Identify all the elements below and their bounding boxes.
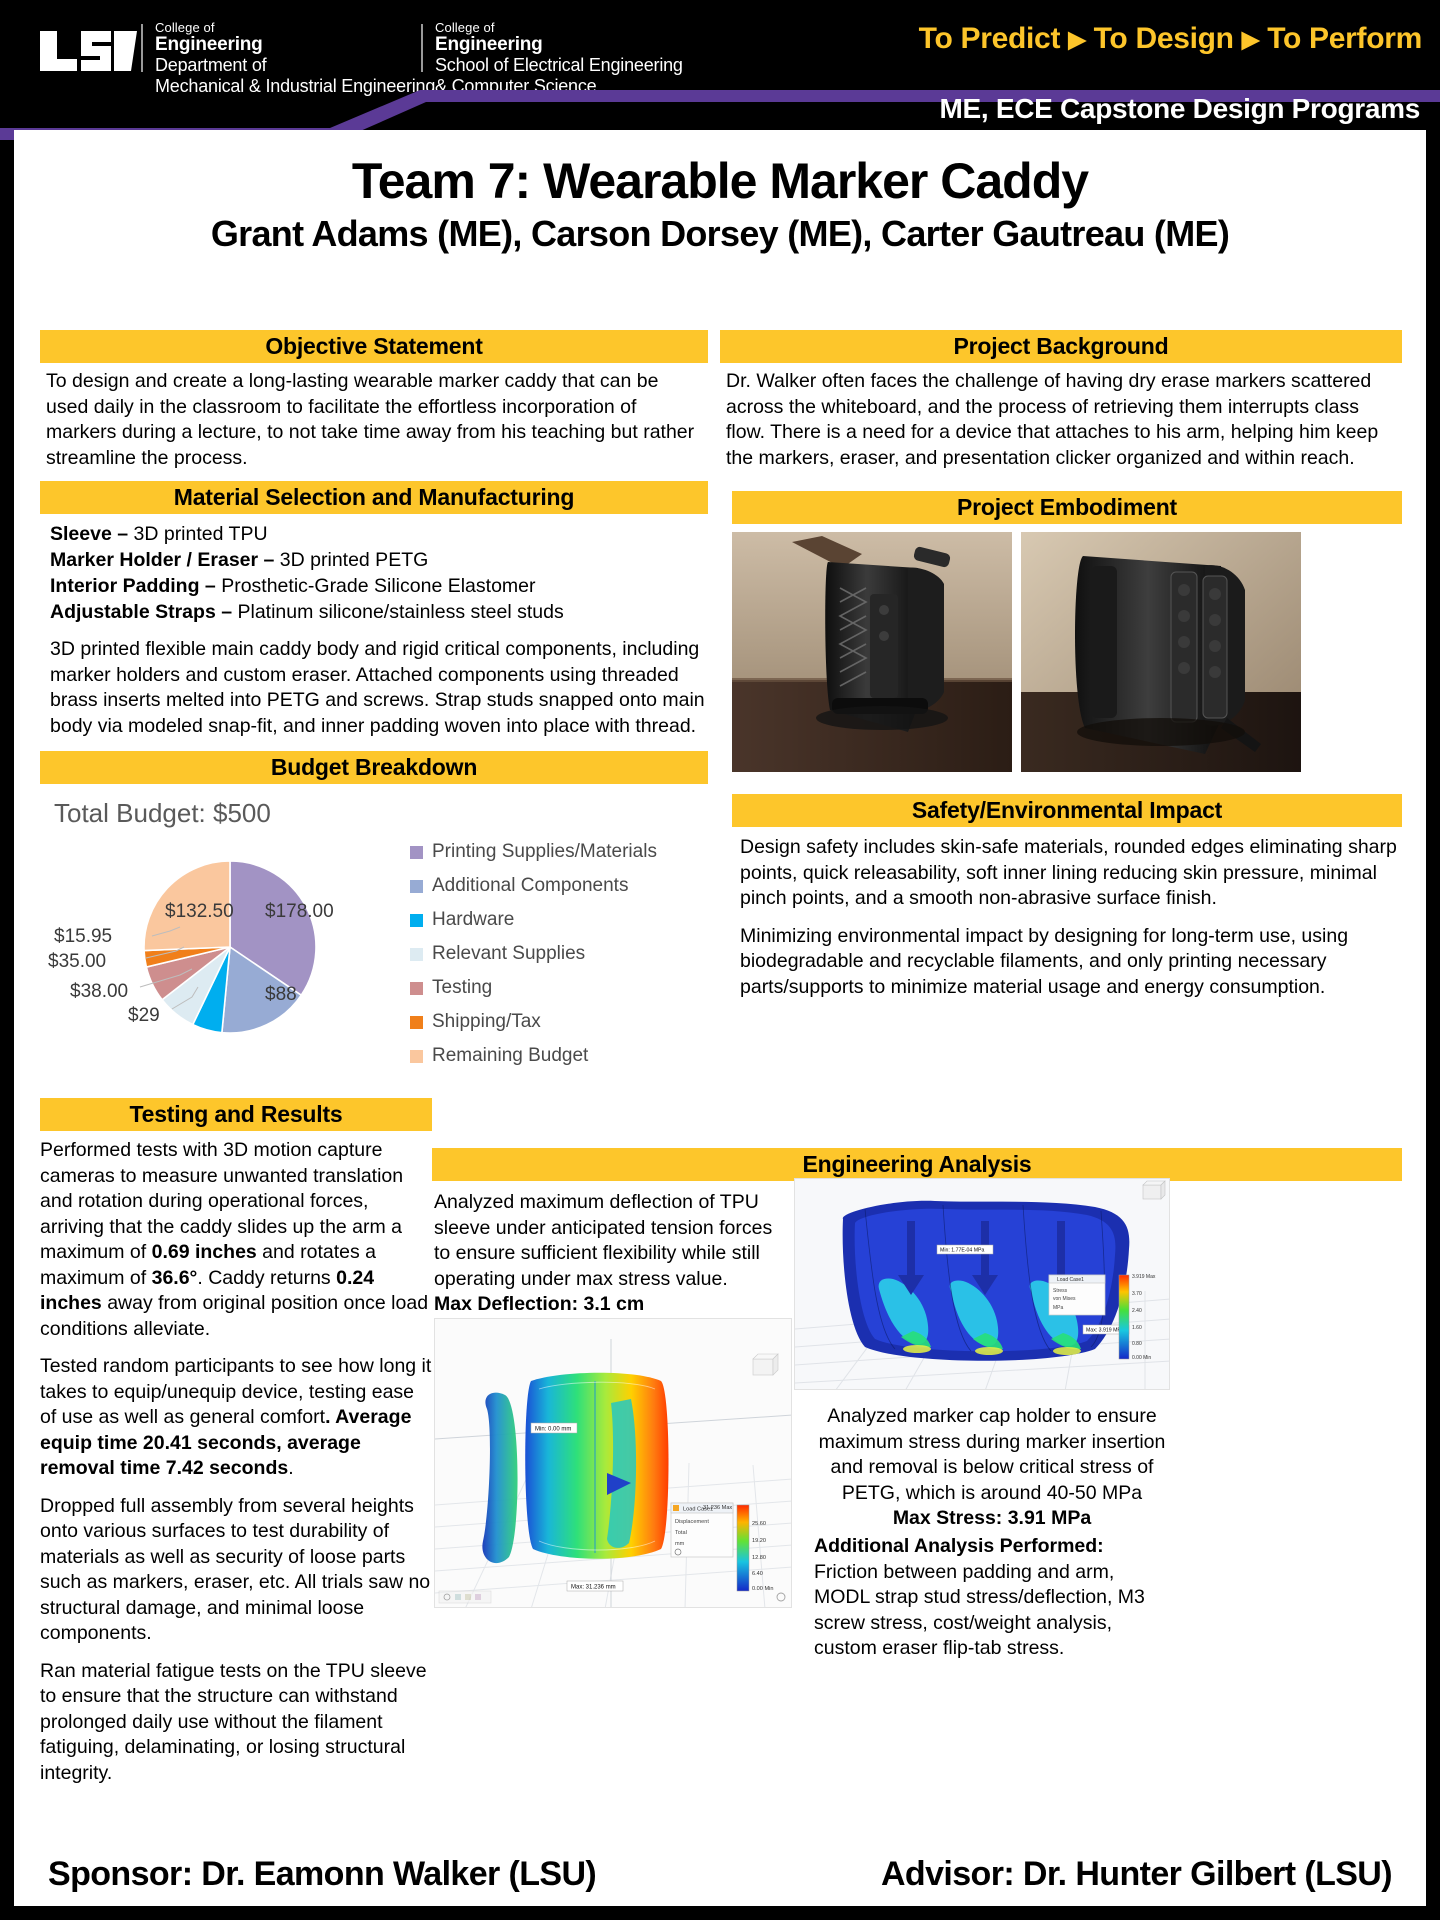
legend-item: Shipping/Tax	[410, 1005, 657, 1039]
dept1-line1: Department of	[155, 55, 435, 76]
section-safety: Safety/Environmental Impact Design safet…	[732, 794, 1402, 1000]
legend-label: Testing	[432, 977, 492, 999]
section-objective: Objective Statement To design and create…	[40, 330, 708, 471]
photo-2-graphic	[1021, 532, 1301, 772]
material-key: Interior Padding –	[50, 575, 216, 597]
pie-label-additional: $88	[265, 984, 297, 1006]
divider	[421, 24, 423, 72]
svg-text:Total: Total	[675, 1530, 687, 1536]
material-key: Adjustable Straps –	[50, 601, 232, 623]
material-key: Sleeve –	[50, 523, 128, 545]
testing-paragraph-1: Performed tests with 3D motion capture c…	[40, 1131, 432, 1342]
advisor-text: Advisor: Dr. Hunter Gilbert (LSU)	[881, 1855, 1392, 1894]
department-eecs: College of Engineering School of Electri…	[435, 20, 683, 97]
additional-label: Additional Analysis Performed:	[814, 1535, 1104, 1557]
testing-paragraph-2: Tested random participants to see how lo…	[40, 1354, 432, 1482]
lsu-logo	[38, 28, 138, 74]
legend-swatch-icon	[410, 1016, 423, 1029]
pie-label-hardware: $29	[128, 1005, 160, 1027]
svg-text:12.80: 12.80	[752, 1555, 766, 1561]
section-embodiment: Project Embodiment	[732, 491, 1402, 772]
legend-label: Hardware	[432, 909, 514, 931]
svg-text:3.919 Max: 3.919 Max	[1132, 1274, 1156, 1280]
program-banner-text: ME, ECE Capstone Design Programs	[939, 88, 1420, 130]
background-body: Dr. Walker often faces the challenge of …	[720, 363, 1402, 471]
safety-heading: Safety/Environmental Impact	[732, 794, 1402, 827]
svg-text:0.00 Min: 0.00 Min	[1132, 1355, 1151, 1361]
additional-analysis: Additional Analysis Performed: Friction …	[814, 1534, 1170, 1662]
pie-label-testing: $35.00	[48, 951, 106, 973]
chart-legend: Printing Supplies/Materials Additional C…	[410, 835, 657, 1073]
dept2-line1: School of Electrical Engineering	[435, 55, 683, 76]
testing-heading: Testing and Results	[40, 1098, 432, 1131]
svg-text:0.80: 0.80	[1132, 1341, 1142, 1347]
pie-label-shipping: $15.95	[54, 926, 112, 948]
background-heading: Project Background	[720, 330, 1402, 363]
objective-heading: Objective Statement	[40, 330, 708, 363]
legend-swatch-icon	[410, 948, 423, 961]
product-photo-1	[732, 532, 1012, 772]
fea1-max-label: Max: 31.236 mm	[571, 1585, 616, 1591]
legend-swatch-icon	[410, 914, 423, 927]
txt-bold: 36.6°	[152, 1267, 198, 1289]
svg-text:6.40: 6.40	[752, 1571, 763, 1577]
legend-label: Printing Supplies/Materials	[432, 841, 657, 863]
section-testing: Testing and Results Performed tests with…	[40, 1098, 432, 1786]
svg-text:Load Case1: Load Case1	[1057, 1277, 1084, 1283]
embodiment-heading: Project Embodiment	[732, 491, 1402, 524]
pie-label-remaining: $132.50	[165, 901, 234, 923]
pie-label-printing: $178.00	[265, 901, 334, 923]
safety-paragraph-2: Minimizing environmental impact by desig…	[732, 924, 1402, 1001]
svg-text:0.00 Min: 0.00 Min	[752, 1586, 773, 1592]
engineering-heading: Engineering Analysis	[432, 1148, 1402, 1181]
embodiment-photos	[732, 524, 1402, 772]
svg-text:3.70: 3.70	[1132, 1291, 1142, 1297]
view-cube-icon	[753, 1354, 778, 1375]
legend-item: Printing Supplies/Materials	[410, 835, 657, 869]
section-budget: Budget Breakdown Total Budget: $500 $132…	[40, 751, 708, 1084]
fea1-legend-panel: Load Case1 Displacement Total mm	[671, 1503, 733, 1557]
safety-paragraph-1: Design safety includes skin-safe materia…	[732, 827, 1402, 912]
budget-chart: Total Budget: $500 $132.50 $178.00 $8	[40, 784, 708, 1084]
sleeve-text: Analyzed maximum deflection of TPU sleev…	[434, 1190, 792, 1292]
txt: . Caddy returns	[197, 1267, 336, 1289]
view-cube-icon	[1143, 1181, 1165, 1199]
arrow-right-icon: ▶	[1068, 26, 1085, 52]
section-material: Material Selection and Manufacturing Sle…	[40, 481, 708, 739]
list-item: Sleeve – 3D printed TPU	[50, 521, 708, 547]
legend-swatch-icon	[410, 880, 423, 893]
legend-label: Additional Components	[432, 875, 628, 897]
pie-label-relevant: $38.00	[70, 981, 128, 1003]
divider	[141, 24, 143, 72]
svg-text:von Mises: von Mises	[1053, 1296, 1076, 1302]
dept2-college: Engineering	[435, 35, 683, 55]
svg-text:31.236 Max: 31.236 Max	[703, 1505, 732, 1511]
sleeve-max-deflection: Max Deflection: 3.1 cm	[434, 1292, 792, 1318]
department-mie: College of Engineering Department of Mec…	[155, 20, 435, 97]
list-item: Interior Padding – Prosthetic-Grade Sili…	[50, 573, 708, 599]
product-photo-2	[1021, 532, 1301, 772]
tagline-predict: To Predict	[919, 22, 1060, 55]
pie-chart	[80, 839, 380, 1049]
svg-text:19.20: 19.20	[752, 1538, 766, 1544]
page-title: Team 7: Wearable Marker Caddy	[14, 130, 1426, 210]
svg-text:MPa: MPa	[1053, 1305, 1064, 1311]
svg-text:Displacement: Displacement	[675, 1519, 709, 1525]
fea2-legend-panel: Load Case1 Stress von Mises MPa	[1049, 1275, 1105, 1315]
material-list: Sleeve – 3D printed TPU Marker Holder / …	[40, 514, 708, 625]
material-value: Platinum silicone/stainless steel studs	[237, 601, 563, 623]
section-engineering: Engineering Analysis Analyzed maximum de…	[432, 1148, 1402, 1181]
fea-sleeve-graphic: Min: 0.00 mm Max: 31.236 mm Load Case1 D…	[435, 1319, 792, 1608]
arrow-right-icon: ▶	[1242, 26, 1259, 52]
material-value: 3D printed TPU	[134, 523, 268, 545]
legend-swatch-icon	[410, 982, 423, 995]
pie-chart-area: $132.50 $178.00 $88 $15.95 $35.00 $38.00…	[40, 829, 708, 1079]
legend-label: Shipping/Tax	[432, 1011, 541, 1033]
material-key: Marker Holder / Eraser –	[50, 549, 274, 571]
photo-1-graphic	[732, 532, 1012, 772]
dept2-college-of: College of	[435, 20, 683, 35]
cap-text: Analyzed marker cap holder to ensure max…	[814, 1404, 1170, 1506]
list-item: Marker Holder / Eraser – 3D printed PETG	[50, 547, 708, 573]
poster-canvas: Team 7: Wearable Marker Caddy Grant Adam…	[14, 130, 1426, 1906]
txt: .	[288, 1457, 293, 1479]
material-paragraph: 3D printed flexible main caddy body and …	[40, 637, 708, 739]
legend-item: Hardware	[410, 903, 657, 937]
svg-text:mm: mm	[675, 1541, 685, 1547]
dept1-college: Engineering	[155, 35, 435, 55]
svg-text:1.60: 1.60	[1132, 1325, 1142, 1331]
material-heading: Material Selection and Manufacturing	[40, 481, 708, 514]
fea-cap-holder-image: Min: 1.77E-04 MPa Max: 3.919 MPa Load Ca…	[794, 1178, 1170, 1390]
list-item: Adjustable Straps – Platinum silicone/st…	[50, 599, 708, 625]
fea2-min-label: Min: 1.77E-04 MPa	[940, 1248, 985, 1254]
right-column: Project Background Dr. Walker often face…	[720, 330, 1402, 1000]
total-budget-label: Total Budget: $500	[40, 784, 708, 829]
svg-text:25.60: 25.60	[752, 1521, 766, 1527]
author-list: Grant Adams (ME), Carson Dorsey (ME), Ca…	[14, 210, 1426, 256]
svg-text:Stress: Stress	[1053, 1288, 1068, 1294]
section-background: Project Background Dr. Walker often face…	[720, 330, 1402, 471]
site-header: College of Engineering Department of Mec…	[0, 0, 1440, 104]
legend-label: Remaining Budget	[432, 1045, 588, 1067]
fea2-max-label: Max: 3.919 MPa	[1086, 1328, 1124, 1334]
material-value: 3D printed PETG	[280, 549, 428, 571]
legend-item: Relevant Supplies	[410, 937, 657, 971]
additional-text: Friction between padding and arm, MODL s…	[814, 1561, 1145, 1660]
cap-analysis-text: Analyzed marker cap holder to ensure max…	[814, 1404, 1170, 1532]
objective-body: To design and create a long-lasting wear…	[40, 363, 708, 471]
legend-label: Relevant Supplies	[432, 943, 585, 965]
legend-item: Additional Components	[410, 869, 657, 903]
tagline-perform: To Perform	[1267, 22, 1422, 55]
cap-max-stress: Max Stress: 3.91 MPa	[814, 1506, 1170, 1532]
txt-bold: 0.69 inches	[152, 1241, 257, 1263]
tagline-design: To Design	[1094, 22, 1234, 55]
testing-paragraph-4: Ran material fatigue tests on the TPU sl…	[40, 1659, 432, 1787]
legend-item: Remaining Budget	[410, 1039, 657, 1073]
svg-text:2.40: 2.40	[1132, 1308, 1142, 1314]
tagline: To Predict ▶ To Design ▶ To Perform	[919, 22, 1422, 56]
legend-swatch-icon	[410, 1050, 423, 1063]
material-value: Prosthetic-Grade Silicone Elastomer	[221, 575, 535, 597]
sponsor-text: Sponsor: Dr. Eamonn Walker (LSU)	[48, 1855, 596, 1894]
pie-slices	[144, 861, 316, 1033]
legend-swatch-icon	[410, 846, 423, 859]
dept1-college-of: College of	[155, 20, 435, 35]
fea-cap-graphic: Min: 1.77E-04 MPa Max: 3.919 MPa Load Ca…	[795, 1179, 1170, 1390]
legend-item: Testing	[410, 971, 657, 1005]
budget-heading: Budget Breakdown	[40, 751, 708, 784]
fea-sleeve-image: Min: 0.00 mm Max: 31.236 mm Load Case1 D…	[434, 1318, 792, 1608]
testing-paragraph-3: Dropped full assembly from several heigh…	[40, 1494, 432, 1647]
fea1-min-label: Min: 0.00 mm	[535, 1427, 571, 1433]
